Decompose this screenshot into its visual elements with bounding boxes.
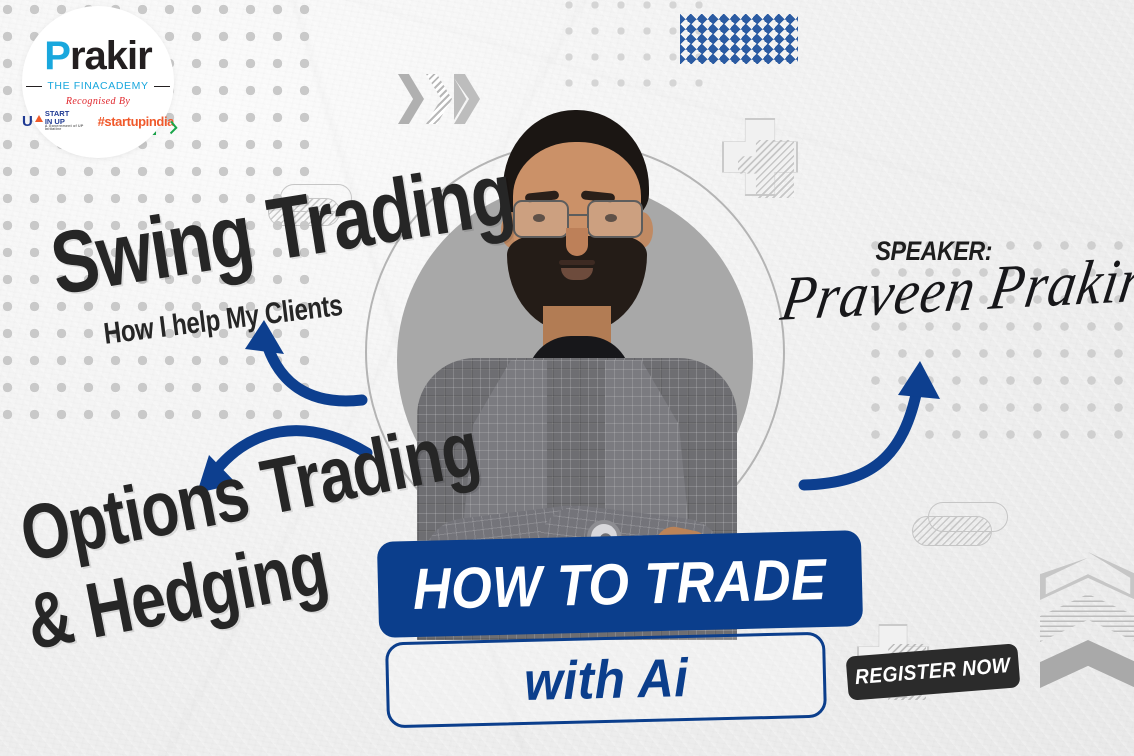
glasses-lens-left [513, 200, 569, 238]
rule-right [154, 86, 170, 88]
cta-headline-banner: HOW TO TRADE [377, 530, 863, 638]
startinup-triangle-icon [35, 115, 43, 122]
chevron-up-icon-group [1040, 552, 1134, 692]
portrait-nose [566, 228, 588, 256]
startinup-badge: U START IN UP A Government of UP Initiat… [22, 110, 92, 131]
startinup-gov-note: A Government of UP Initiative [45, 125, 92, 132]
brand-logo-badge[interactable]: Prakir THE FINACADEMY Recognised By U ST… [22, 6, 174, 158]
chevron-up-icon-solid [1040, 640, 1134, 688]
startinup-text: START IN UP A Government of UP Initiativ… [45, 110, 92, 131]
brand-initial: P [44, 34, 70, 78]
capsule-shape-outline-b [928, 502, 1008, 532]
promotional-poster: Prakir THE FINACADEMY Recognised By U ST… [0, 0, 1134, 756]
glasses-lens-right [587, 200, 643, 238]
register-now-label: REGISTER NOW [854, 654, 1011, 690]
zigzag-pattern-block [680, 14, 798, 64]
partner-badges: U START IN UP A Government of UP Initiat… [22, 110, 174, 131]
rule-left [26, 86, 42, 88]
chevron-up-icon-hatched [1040, 594, 1134, 642]
curved-arrow-up-right-icon [800, 355, 950, 505]
chevron-up-icon-outline [1040, 552, 1134, 600]
glasses-bridge [569, 214, 587, 216]
startupindia-text: #startupindia [98, 114, 174, 129]
startinup-mark: U [22, 114, 33, 129]
portrait-lip-line [559, 260, 595, 265]
recognised-by-label: Recognised By [66, 96, 130, 107]
brand-name: Prakir [44, 36, 151, 76]
cta-subhead-banner: with Ai [385, 632, 827, 729]
brand-tagline-row: THE FINACADEMY [26, 80, 169, 92]
cta-headline-text: HOW TO TRADE [413, 545, 828, 622]
brand-name-rest: rakir [70, 34, 152, 78]
startupindia-badge: #startupindia [98, 114, 174, 129]
brand-tagline: THE FINACADEMY [47, 80, 148, 92]
cta-subhead-text: with Ai [523, 647, 689, 713]
